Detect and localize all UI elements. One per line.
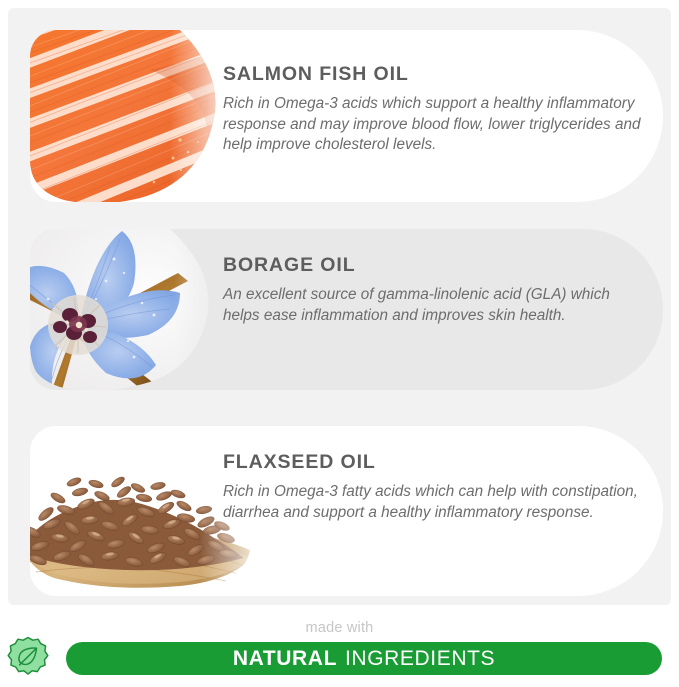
card-description: An excellent source of gamma-linolenic a… <box>223 285 643 326</box>
card-description: Rich in Omega-3 acids which support a he… <box>223 94 643 155</box>
made-with-label: made with <box>0 620 679 636</box>
card-title: SALMON FISH OIL <box>223 64 643 85</box>
natural-ingredients-pill: NATURAL INGREDIENTS <box>66 642 662 675</box>
content-panel: SALMON FISH OIL Rich in Omega-3 acids wh… <box>8 8 671 605</box>
card-title: BORAGE OIL <box>223 255 643 276</box>
flaxseed-oil-copy: FLAXSEED OIL Rich in Omega-3 fatty acids… <box>223 452 643 523</box>
ingredient-infographic: SALMON FISH OIL Rich in Omega-3 acids wh… <box>0 0 679 687</box>
salmon-fish-oil-copy: SALMON FISH OIL Rich in Omega-3 acids wh… <box>223 64 643 155</box>
borage-oil-copy: BORAGE OIL An excellent source of gamma-… <box>223 255 643 326</box>
ingredients-word: INGREDIENTS <box>345 647 495 671</box>
leaf-badge-icon <box>5 634 51 682</box>
card-title: FLAXSEED OIL <box>223 452 643 473</box>
natural-word: NATURAL <box>233 647 337 671</box>
salmon-fillet-photo <box>30 30 230 202</box>
ingredient-card-flaxseed-oil: FLAXSEED OIL Rich in Omega-3 fatty acids… <box>30 426 663 596</box>
ingredient-card-borage-oil: BORAGE OIL An excellent source of gamma-… <box>30 229 663 390</box>
natural-ingredients-banner: made with NATURAL INGREDIENTS <box>0 606 679 687</box>
card-description: Rich in Omega-3 fatty acids which can he… <box>223 482 643 523</box>
ingredient-card-salmon-fish-oil: SALMON FISH OIL Rich in Omega-3 acids wh… <box>30 30 663 202</box>
borage-flower-photo <box>30 229 230 390</box>
